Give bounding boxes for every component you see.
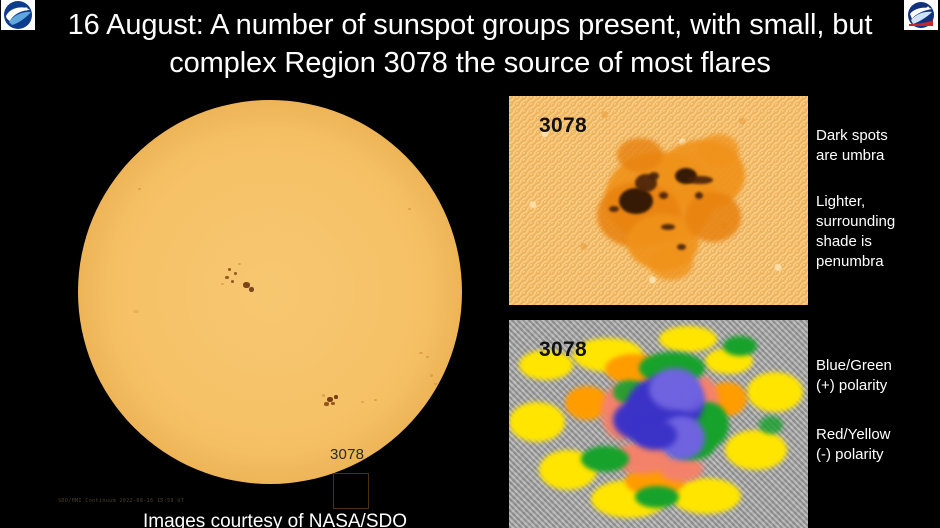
title-line-1: 16 August: A number of sunspot groups pr… (68, 9, 873, 41)
solar-disk (78, 100, 462, 484)
note-positive-line-1: Blue/Green (816, 356, 936, 376)
note-negative-line-2: (-) polarity (816, 445, 936, 465)
note-penumbra-line-2: surrounding (816, 212, 936, 232)
full-disk-solar-image: 3078 SDO/HMI Continuum 2022-08-16 15:59 … (40, 95, 500, 528)
region-3078-highlight-box (333, 473, 369, 509)
note-penumbra: Lighter, surrounding shade is penumbra (816, 192, 936, 272)
magnetogram-region-label: 3078 (539, 338, 587, 362)
continuum-closeup-panel: 3078 (509, 96, 808, 305)
note-umbra: Dark spots are umbra (816, 126, 936, 166)
note-penumbra-line-1: Lighter, (816, 192, 936, 212)
slide-canvas: 16 August: A number of sunspot groups pr… (0, 0, 940, 528)
region-3078-disk-label: 3078 (330, 447, 364, 463)
note-umbra-line-1: Dark spots (816, 126, 936, 146)
note-umbra-line-2: are umbra (816, 146, 936, 166)
continuum-region-label: 3078 (539, 114, 587, 138)
note-negative-polarity: Red/Yellow (-) polarity (816, 425, 936, 465)
note-penumbra-line-3: shade is (816, 232, 936, 252)
note-positive-polarity: Blue/Green (+) polarity (816, 356, 936, 396)
note-positive-line-2: (+) polarity (816, 376, 936, 396)
sdo-timestamp-watermark: SDO/HMI Continuum 2022-08-16 15:59 UT (58, 498, 184, 504)
title-line-2: complex Region 3078 the source of most f… (0, 44, 940, 82)
magnetogram-closeup-panel: 3078 (509, 320, 808, 528)
image-credit: Images courtesy of NASA/SDO (40, 512, 510, 528)
page-title: 16 August: A number of sunspot groups pr… (0, 6, 940, 82)
note-negative-line-1: Red/Yellow (816, 425, 936, 445)
note-penumbra-line-4: penumbra (816, 252, 936, 272)
